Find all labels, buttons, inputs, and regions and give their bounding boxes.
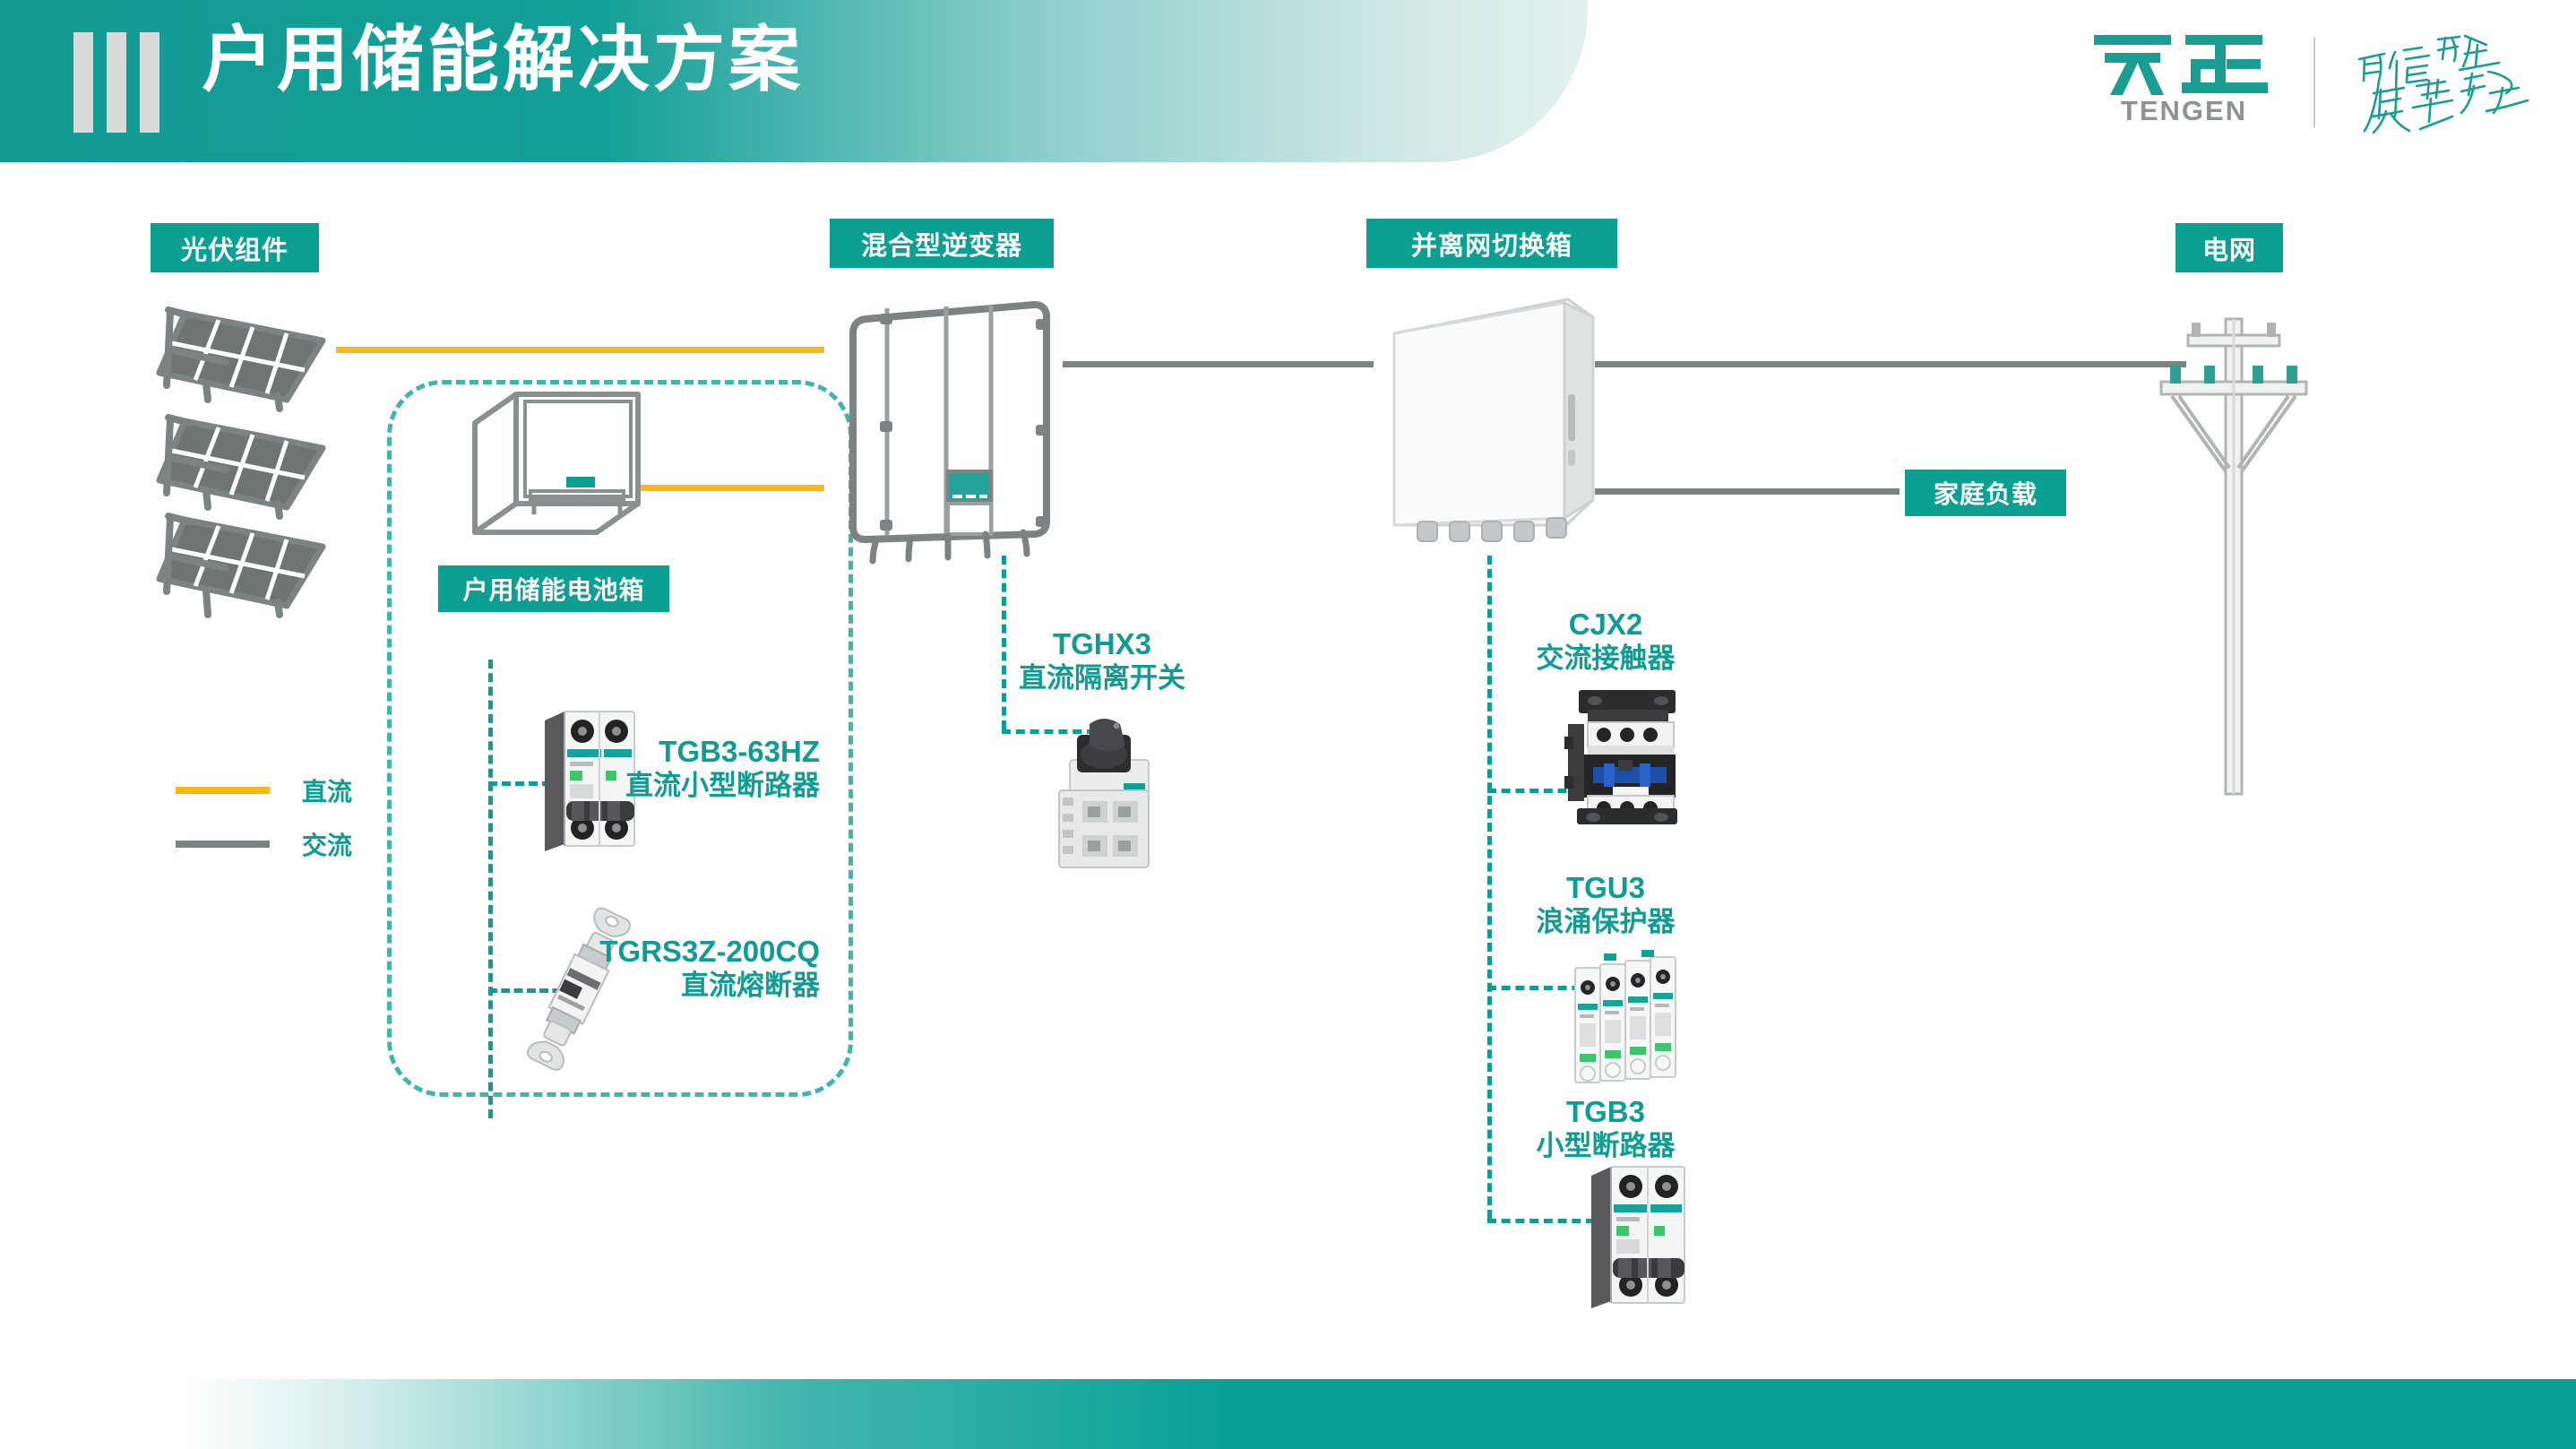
product-model-cjx2: CJX2 (1489, 608, 1722, 643)
enclosure-box-icon (1380, 287, 1604, 556)
ac-contactor-icon (1557, 683, 1692, 826)
slogan-handwriting-icon (2352, 29, 2549, 136)
product-model-tgb3: TGB3 (1489, 1095, 1722, 1130)
page-title: 户用储能解决方案 (202, 24, 804, 96)
callout-tghx3: TGHX3 直流隔离开关 (986, 627, 1219, 695)
solar-panel-icon (152, 303, 332, 410)
section-label-grid: 电网 (2175, 223, 2283, 272)
logo-divider (2313, 38, 2315, 127)
header-bars-decoration (73, 32, 159, 133)
callout-tgu3: TGU3 浪涌保护器 (1489, 871, 1722, 939)
brand-logo: TENGEN (2092, 27, 2549, 139)
solar-panel-icon (152, 410, 332, 518)
legend-item-dc: 直流 (176, 763, 352, 817)
section-label-switch-box: 并离网切换箱 (1366, 219, 1617, 268)
section-label-pv: 光伏组件 (151, 223, 319, 272)
product-desc-tgb3-63hz: 直流小型断路器 (609, 770, 820, 803)
dc-isolator-switch-icon (1027, 708, 1170, 874)
product-model-tgu3: TGU3 (1489, 871, 1722, 906)
wire-ac-switchbox-to-grid (1595, 361, 2186, 367)
branch-stub-tgb3 (1487, 1219, 1595, 1223)
callout-cjx2: CJX2 交流接触器 (1489, 608, 1722, 676)
legend-item-ac: 交流 (176, 817, 352, 871)
product-desc-tgu3: 浪涌保护器 (1489, 906, 1722, 939)
legend-swatch-dc (176, 787, 270, 794)
branch-trunk-battery (488, 660, 493, 1118)
tengen-chinese-logo-icon (2092, 27, 2276, 97)
legend: 直流 交流 (176, 763, 352, 871)
utility-pole-icon (2149, 296, 2319, 798)
tengen-wordmark: TENGEN (2092, 97, 2276, 125)
product-model-tghx3: TGHX3 (986, 627, 1219, 662)
legend-label-ac: 交流 (302, 826, 352, 862)
surge-protector-icon (1561, 948, 1691, 1091)
wire-dc-pv-to-inverter (336, 347, 824, 353)
product-model-tgb3-63hz: TGB3-63HZ (609, 735, 820, 770)
header-bar-2 (107, 32, 126, 133)
product-model-tgrs3z-200cq: TGRS3Z-200CQ (578, 935, 820, 970)
wire-ac-inverter-to-switchbox (1063, 361, 1374, 367)
battery-cabinet-icon (466, 389, 645, 537)
diagram-canvas: 户用储能解决方案 TENGEN (0, 0, 2576, 1449)
callout-tgb3-63hz: TGB3-63HZ 直流小型断路器 (609, 735, 820, 803)
product-desc-tghx3: 直流隔离开关 (986, 662, 1219, 695)
product-desc-cjx2: 交流接触器 (1489, 643, 1722, 676)
legend-label-dc: 直流 (302, 772, 352, 808)
miniature-circuit-breaker-icon (1584, 1154, 1696, 1315)
legend-swatch-ac (176, 841, 270, 848)
callout-tgrs3z-200cq: TGRS3Z-200CQ 直流熔断器 (578, 935, 820, 1003)
header-bar-1 (73, 32, 93, 133)
section-label-home-load: 家庭负载 (1905, 470, 2066, 516)
footer-decoration-band (0, 1379, 2576, 1449)
wire-ac-switchbox-to-homeload (1595, 488, 1900, 495)
header-bar-3 (140, 32, 159, 133)
product-desc-tgrs3z-200cq: 直流熔断器 (578, 970, 820, 1003)
section-label-inverter: 混合型逆变器 (830, 219, 1054, 268)
solar-panel-icon (152, 509, 332, 617)
inverter-cabinet-icon (833, 296, 1066, 556)
callout-tgb3: TGB3 小型断路器 (1489, 1095, 1722, 1163)
header-banner: 户用储能解决方案 (0, 0, 1588, 162)
